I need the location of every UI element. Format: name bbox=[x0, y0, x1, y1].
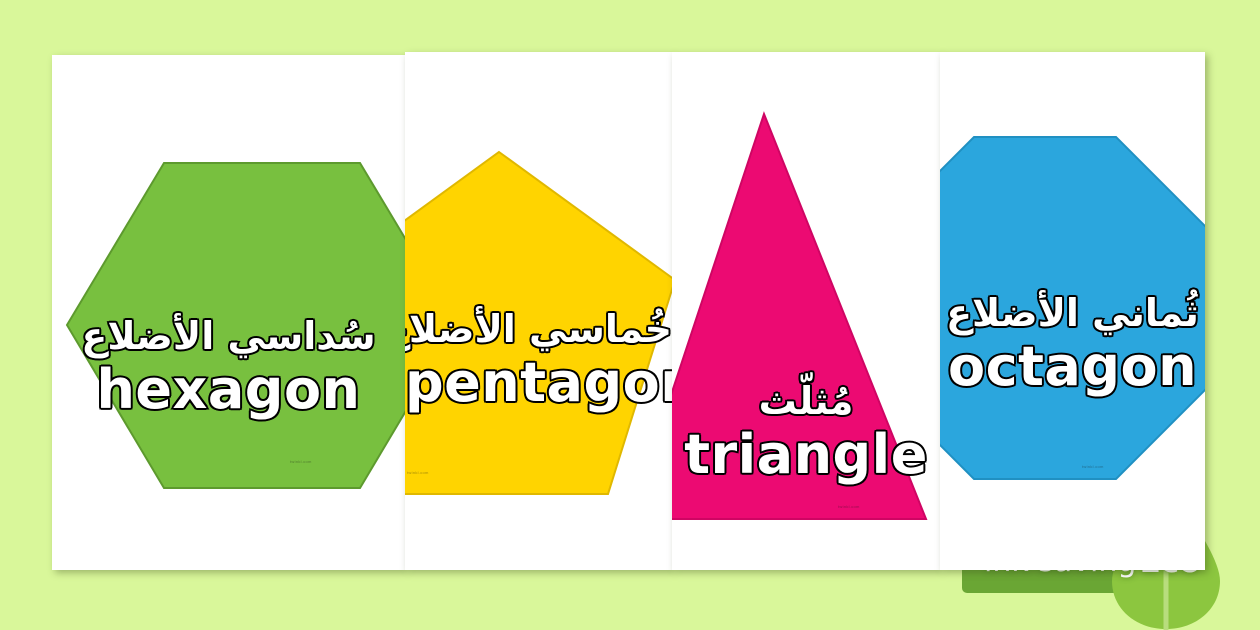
triangle-shape bbox=[672, 114, 926, 519]
poster-card-octagon[interactable]: ثُماني الأضلاع octagon twinkl.com bbox=[940, 52, 1205, 570]
card-inner-pentagon: خُماسي الأضلاع pentagon twinkl.com bbox=[405, 52, 672, 570]
pentagon-shape bbox=[405, 152, 672, 494]
card-inner-octagon: ثُماني الأضلاع octagon twinkl.com bbox=[940, 52, 1205, 570]
poster-card-triangle[interactable]: مُثلّث triangle twinkl.com bbox=[672, 52, 940, 570]
hexagon-shape bbox=[67, 163, 405, 488]
pentagon-svg bbox=[405, 152, 672, 494]
poster-card-pentagon[interactable]: خُماسي الأضلاع pentagon twinkl.com bbox=[405, 52, 672, 570]
poster-collage: سُداسي الأضلاع hexagon twinkl.com خُماسي… bbox=[0, 0, 1260, 630]
card-inner-triangle: مُثلّث triangle twinkl.com bbox=[672, 52, 940, 570]
watermark-triangle: twinkl.com bbox=[838, 504, 860, 509]
watermark-octagon: twinkl.com bbox=[1082, 464, 1104, 469]
poster-card-hexagon[interactable]: سُداسي الأضلاع hexagon twinkl.com bbox=[52, 55, 405, 570]
card-inner-hexagon: سُداسي الأضلاع hexagon twinkl.com bbox=[52, 55, 405, 570]
octagon-svg bbox=[940, 137, 1205, 479]
hexagon-svg bbox=[67, 163, 405, 488]
watermark-pentagon: twinkl.com bbox=[407, 470, 429, 475]
triangle-svg bbox=[672, 114, 926, 519]
octagon-shape bbox=[940, 137, 1205, 479]
watermark-hexagon: twinkl.com bbox=[290, 459, 312, 464]
